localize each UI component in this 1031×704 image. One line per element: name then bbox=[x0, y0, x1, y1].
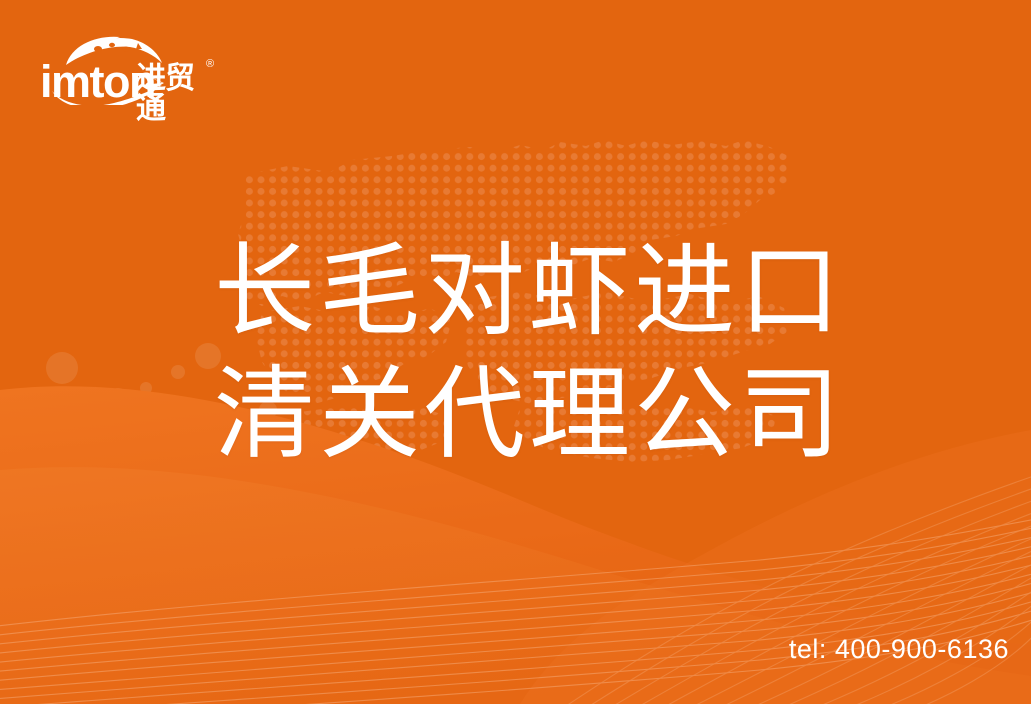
registered-trademark-mark: ® bbox=[206, 59, 214, 70]
headline-line-2: 清关代理公司 bbox=[214, 354, 844, 477]
contact-phone[interactable]: tel: 400-900-6136 bbox=[789, 634, 1009, 665]
logo-chinese-name: 进贸通 bbox=[136, 64, 213, 124]
headline-line-1: 长毛对虾进口 bbox=[214, 231, 844, 354]
promo-banner: imton 进贸通 ® 长毛对虾进口 清关代理公司 tel: 400-900-6… bbox=[0, 0, 1031, 704]
brand-logo[interactable]: imton 进贸通 ® bbox=[38, 33, 213, 105]
page-title: 长毛对虾进口 清关代理公司 bbox=[214, 231, 844, 477]
